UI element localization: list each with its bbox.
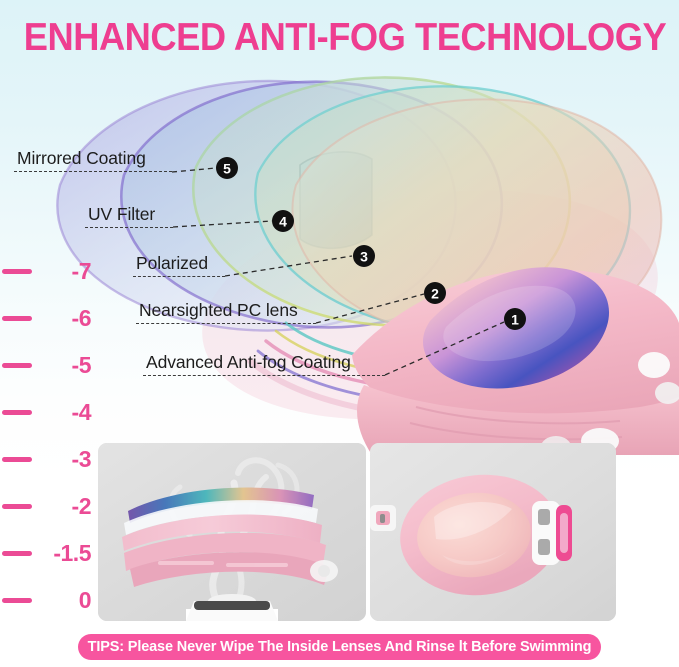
callout-polarized: Polarized	[133, 253, 225, 277]
callout-underline	[143, 375, 385, 376]
callout-mirrored-coating: Mirrored Coating	[14, 148, 172, 172]
callout-underline	[136, 323, 316, 324]
page-title: ENHANCED ANTI-FOG TECHNOLOGY	[24, 16, 655, 60]
callout-label-text: UV Filter	[85, 204, 173, 227]
scale-value: -7	[72, 255, 91, 287]
scale-tick: -2	[0, 490, 96, 524]
scale-tick: -6	[0, 302, 96, 336]
tips-text: TIPS: Please Never Wipe The Inside Lense…	[88, 639, 592, 655]
scale-tick: -5	[0, 349, 96, 383]
callout-label-text: Nearsighted PC lens	[136, 300, 316, 323]
scale-tick: -1.5	[0, 537, 96, 571]
photo-panel-steam-test	[98, 443, 366, 621]
scale-value: 0	[79, 584, 91, 616]
scale-dash	[2, 551, 32, 556]
scale-dash	[2, 269, 32, 274]
callout-label-text: Advanced Anti-fog Coating	[143, 352, 385, 375]
scale-value: -6	[72, 302, 91, 334]
tips-banner: TIPS: Please Never Wipe The Inside Lense…	[78, 634, 601, 660]
goggle-illustration	[0, 55, 679, 455]
scale-dash	[2, 410, 32, 415]
scale-dash	[2, 316, 32, 321]
callout-nearsighted-pc-lens: Nearsighted PC lens	[136, 300, 316, 324]
scale-dash	[2, 457, 32, 462]
scale-dash	[2, 363, 32, 368]
scale-tick: -3	[0, 443, 96, 477]
scale-tick: -4	[0, 396, 96, 430]
callout-underline	[133, 276, 225, 277]
scale-dash	[2, 598, 32, 603]
scale-value: -2	[72, 490, 91, 522]
callout-label-text: Mirrored Coating	[14, 148, 172, 171]
scale-value: -4	[72, 396, 91, 428]
scale-value: -5	[72, 349, 91, 381]
callout-uv-filter: UV Filter	[85, 204, 173, 228]
photo-panel-lens-closeup	[370, 443, 616, 621]
callout-underline	[85, 227, 173, 228]
scale-dash	[2, 504, 32, 509]
callout-anti-fog-coating: Advanced Anti-fog Coating	[143, 352, 385, 376]
scale-value: -1.5	[53, 537, 91, 569]
infographic-canvas: ENHANCED ANTI-FOG TECHNOLOGY	[0, 0, 679, 667]
callout-label-text: Polarized	[133, 253, 225, 276]
scale-tick: -7	[0, 255, 96, 289]
callout-underline	[14, 171, 172, 172]
scale-value: -3	[72, 443, 91, 475]
scale-tick: 0	[0, 584, 96, 618]
